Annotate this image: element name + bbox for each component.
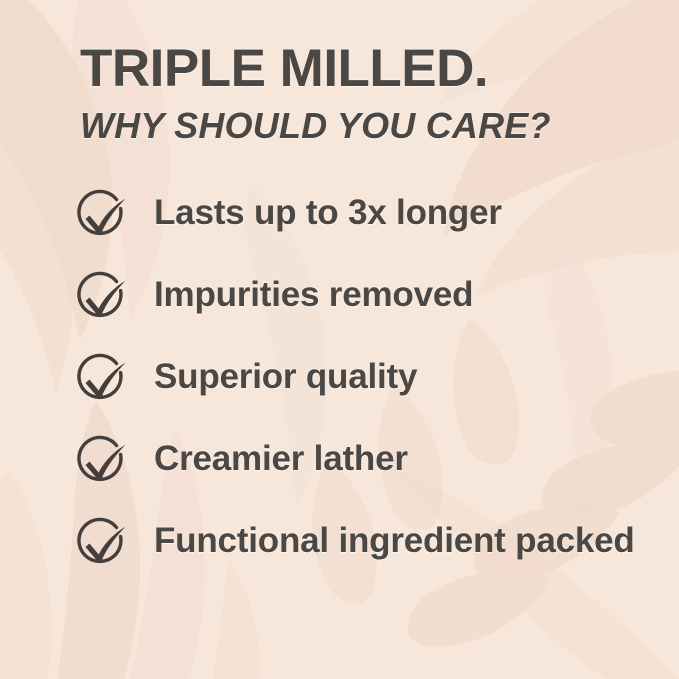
headline-block: TRIPLE MILLED. WHY SHOULD YOU CARE?: [80, 42, 650, 144]
circle-check-icon: [72, 352, 132, 410]
circle-check-icon: [72, 270, 132, 328]
benefit-label: Functional ingredient packed: [154, 514, 662, 562]
page-title: TRIPLE MILLED.: [80, 42, 650, 97]
benefits-list: Lasts up to 3x longer Impurities removed: [72, 186, 662, 574]
benefit-label: Creamier lather: [154, 432, 662, 480]
benefit-label: Lasts up to 3x longer: [154, 186, 662, 234]
benefit-label: Superior quality: [154, 350, 662, 398]
circle-check-icon: [72, 188, 132, 246]
page-subtitle: WHY SHOULD YOU CARE?: [80, 107, 650, 145]
triple-milled-infographic: TRIPLE MILLED. WHY SHOULD YOU CARE? Last…: [0, 0, 679, 679]
benefit-label: Impurities removed: [154, 268, 662, 316]
list-item: Functional ingredient packed: [72, 514, 662, 574]
list-item: Superior quality: [72, 350, 662, 410]
list-item: Creamier lather: [72, 432, 662, 492]
list-item: Impurities removed: [72, 268, 662, 328]
circle-check-icon: [72, 434, 132, 492]
circle-check-icon: [72, 516, 132, 574]
list-item: Lasts up to 3x longer: [72, 186, 662, 246]
